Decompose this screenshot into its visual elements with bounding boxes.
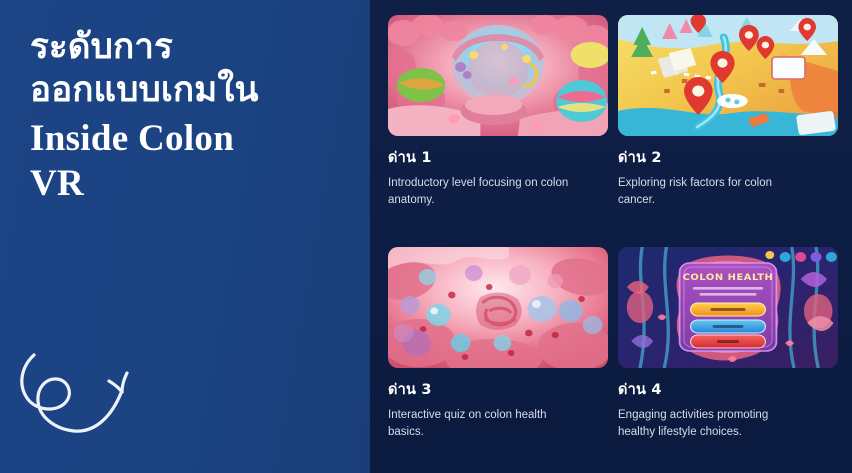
page-title-thai: ระดับการ ออกแบบเกมใน xyxy=(30,26,340,113)
level-card-grid: ด่าน 1 Introductory level focusing on co… xyxy=(388,15,838,463)
level-card-description: Engaging activities promoting healthy li… xyxy=(618,407,808,440)
left-title-panel: ระดับการ ออกแบบเกมใน Inside Colon VR xyxy=(0,0,370,473)
level-card-title: ด่าน 4 xyxy=(618,382,838,399)
level-cards-panel: ด่าน 1 Introductory level focusing on co… xyxy=(370,0,852,473)
level-card[interactable]: ด่าน 3 Interactive quiz on colon health … xyxy=(388,247,608,463)
level-card[interactable]: ด่าน 2 Exploring risk factors for colon … xyxy=(618,15,838,231)
level-card-title: ด่าน 3 xyxy=(388,382,608,399)
level-card-description: Introductory level focusing on colon ana… xyxy=(388,175,578,208)
slide-root: ระดับการ ออกแบบเกมใน Inside Colon VR xyxy=(0,0,852,473)
level-card-description: Interactive quiz on colon health basics. xyxy=(388,407,578,440)
level-card[interactable]: COLON HEALTH xyxy=(618,247,838,463)
level-card-description: Exploring risk factors for colon cancer. xyxy=(618,175,808,208)
level-thumbnail-colon-cells[interactable] xyxy=(388,247,608,368)
page-title: ระดับการ ออกแบบเกมใน Inside Colon VR xyxy=(30,26,340,206)
level-thumbnail-colon-tunnel[interactable] xyxy=(388,15,608,136)
svg-text:COLON HEALTH: COLON HEALTH xyxy=(683,272,774,282)
level-card[interactable]: ด่าน 1 Introductory level focusing on co… xyxy=(388,15,608,231)
level-thumbnail-game-menu-ui[interactable]: COLON HEALTH xyxy=(618,247,838,368)
level-thumbnail-game-board-map[interactable] xyxy=(618,15,838,136)
page-title-english: Inside Colon VR xyxy=(30,116,340,206)
curly-arrow-up-right-icon xyxy=(14,351,146,437)
level-card-title: ด่าน 2 xyxy=(618,150,838,167)
level-card-title: ด่าน 1 xyxy=(388,150,608,167)
